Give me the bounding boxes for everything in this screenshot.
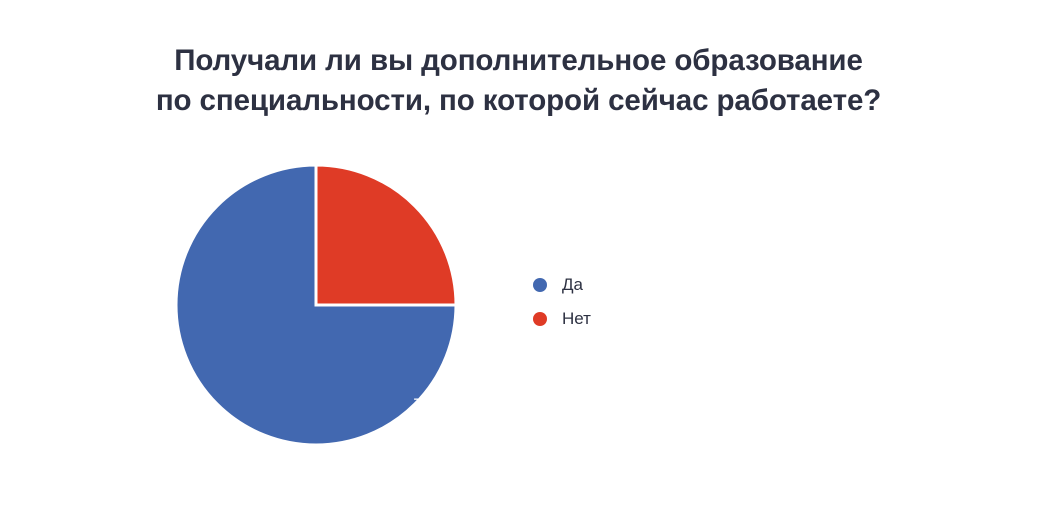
pie-slice-label-da: 75%: [400, 396, 460, 415]
page-title-line-2: по специальности, по которой сейчас рабо…: [0, 81, 1037, 121]
plot-area: 25% 75% Да Нет: [0, 130, 1037, 508]
page-title: Получали ли вы дополнительное образовани…: [0, 41, 1037, 121]
page-title-line-1: Получали ли вы дополнительное образовани…: [0, 41, 1037, 81]
legend-item-net[interactable]: Нет: [533, 302, 591, 336]
legend-item-label: Нет: [562, 309, 591, 329]
legend-item-da[interactable]: Да: [533, 268, 591, 302]
pie-slice-net[interactable]: [316, 165, 456, 305]
legend: Да Нет: [533, 268, 591, 336]
legend-swatch-circle-icon: [533, 278, 547, 292]
legend-swatch-circle-icon: [533, 312, 547, 326]
pie-chart: 25% 75%: [176, 165, 456, 445]
chart-page: Получали ли вы дополнительное образовани…: [0, 0, 1037, 508]
legend-item-label: Да: [562, 275, 583, 295]
